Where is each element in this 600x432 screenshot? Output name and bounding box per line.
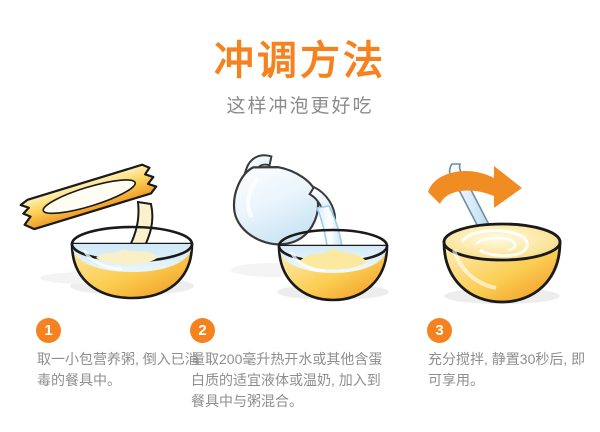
page-title: 冲调方法	[0, 38, 600, 84]
header: 冲调方法 这样冲泡更好吃	[0, 38, 600, 120]
steps-row: 1 取一小包营养粥, 倒入已消毒的餐具中。 2 量取200毫升热开水或其他含蛋白…	[0, 318, 600, 432]
step-2-number-badge: 2	[190, 318, 215, 343]
instruction-infographic: 冲调方法 这样冲泡更好吃	[0, 0, 600, 432]
step-3-number-badge: 3	[427, 318, 452, 343]
step-2: 2 量取200毫升热开水或其他含蛋白质的适宜液体或温奶, 加入到餐具中与粥混合。	[178, 318, 393, 412]
stirring-porridge-with-spoon-illustration	[410, 150, 600, 310]
step-3: 3 充分搅拌, 静置30秒后, 即可享用。	[415, 318, 590, 391]
sachet-pouring-into-bowl-illustration	[10, 150, 220, 310]
step-1-number-badge: 1	[36, 318, 61, 343]
step-2-description: 量取200毫升热开水或其他含蛋白质的适宜液体或温奶, 加入到餐具中与粥混合。	[191, 349, 393, 412]
illustration-row	[0, 150, 600, 310]
powder-sachet	[18, 163, 158, 232]
pitcher-pouring-water-into-bowl-illustration	[225, 150, 415, 310]
page-subtitle: 这样冲泡更好吃	[0, 94, 600, 120]
step-1: 1 取一小包营养粥, 倒入已消毒的餐具中。	[24, 318, 204, 391]
step-3-description: 充分搅拌, 静置30秒后, 即可享用。	[428, 349, 590, 391]
pitcher-body	[225, 157, 327, 255]
